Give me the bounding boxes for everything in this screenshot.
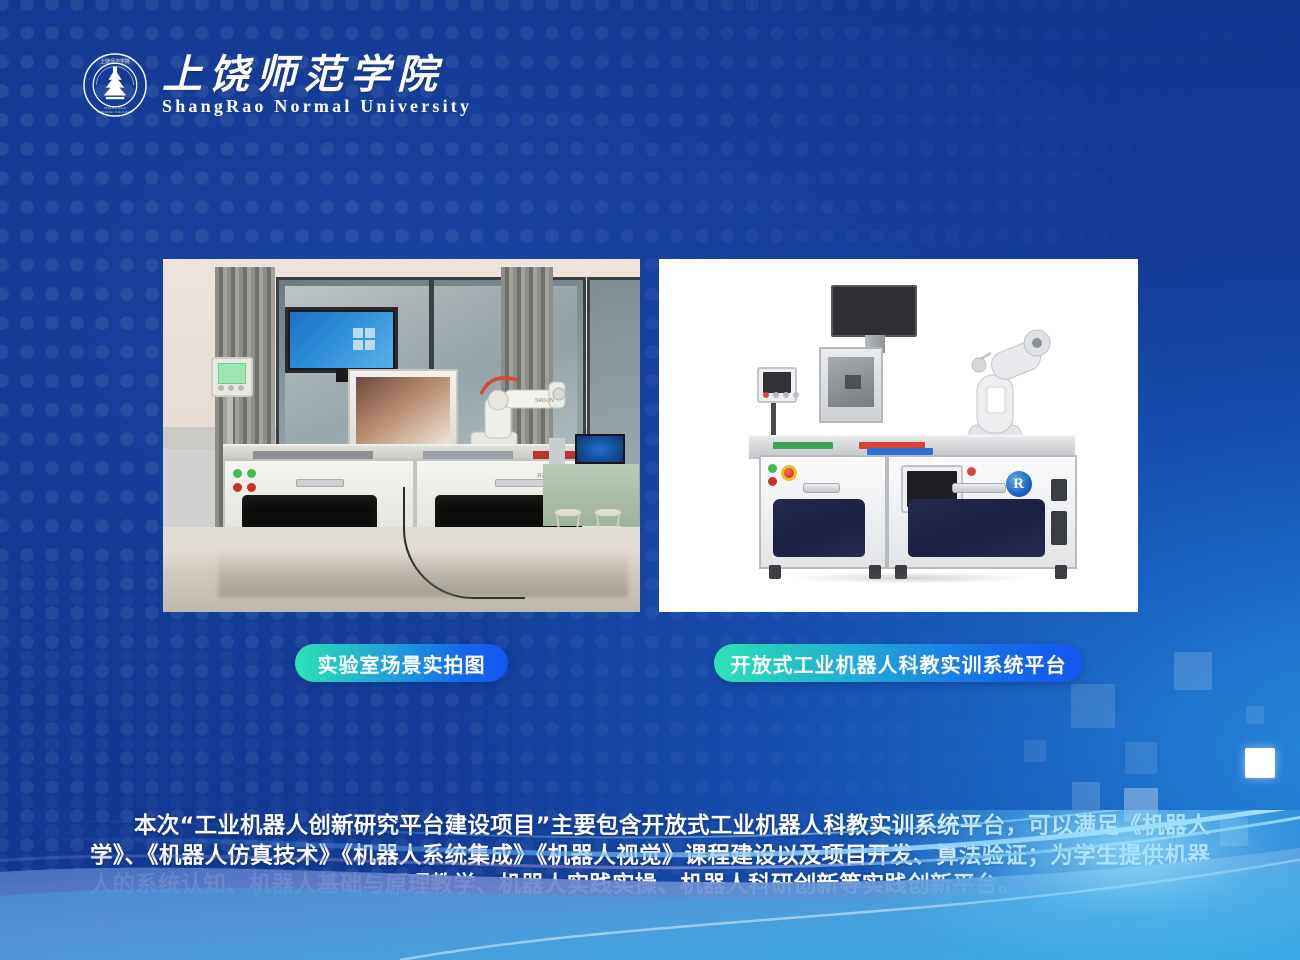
lab-pendant-buttons [218, 385, 244, 391]
render-side-vent [1051, 511, 1067, 545]
lab-monitor-screen [290, 312, 393, 368]
bottom-wave-decoration [0, 810, 1300, 960]
lab-scene-illustration: SIASUN 开放 [163, 259, 640, 612]
render-cabinet-window [908, 499, 1046, 557]
render-cabinet-indicators [768, 464, 778, 486]
gallery-image-lab-photo[interactable]: SIASUN 开放 [163, 259, 640, 612]
render-cabinet-right: R 机器人创新工坊 [887, 455, 1077, 569]
lab-machine-enclosure [348, 369, 458, 454]
render-cabinet-handle [952, 483, 1006, 493]
svg-text:上饶师范学院: 上饶师范学院 [100, 58, 130, 65]
render-hmi-controls [763, 392, 799, 398]
caption-row: 实验室场景实拍图 开放式工业机器人科教实训系统平台 [0, 644, 1300, 684]
svg-text:SHANGRAO: SHANGRAO [104, 106, 126, 110]
render-enclosure-tool [845, 375, 861, 389]
lab-cabinet-handle [296, 479, 343, 487]
gallery-image-platform-render[interactable]: R 机器人创新工坊 [659, 259, 1138, 612]
decorative-square [1024, 740, 1046, 762]
university-logo: 上饶师范学院 SHANGRAO NORMAL COLLEGE 上饶师范学院 Sh… [82, 52, 472, 118]
render-cabinet-handle [803, 483, 840, 493]
slide-root: 上饶师范学院 SHANGRAO NORMAL COLLEGE 上饶师范学院 Sh… [0, 0, 1300, 960]
decorative-square [1246, 706, 1264, 724]
render-cabinet-left [759, 455, 887, 569]
university-seal-icon: 上饶师范学院 SHANGRAO NORMAL COLLEGE [82, 52, 148, 118]
lab-teach-pendant [211, 357, 253, 397]
render-brand-mark: R [1006, 471, 1032, 497]
render-bench-rail [867, 448, 933, 455]
lab-floor-reflection [218, 549, 628, 597]
render-panel-stop-button [967, 467, 976, 476]
logo-name-en: ShangRao Normal University [162, 97, 472, 115]
platform-render-illustration: R 机器人创新工坊 [659, 259, 1138, 612]
emergency-stop-icon [781, 465, 797, 481]
logo-name-cn: 上饶师范学院 [162, 55, 472, 95]
lab-cabinet-handle [495, 479, 546, 487]
lab-pendant-screen [218, 363, 246, 384]
lab-enclosure-glass [356, 377, 450, 446]
render-bench-rail [773, 442, 833, 449]
lab-desk-monitor-wallpaper [577, 436, 623, 462]
render-ground-shadow [745, 570, 1075, 586]
svg-text:NORMAL COLLEGE: NORMAL COLLEGE [97, 110, 134, 114]
logo-text-block: 上饶师范学院 ShangRao Normal University [162, 55, 472, 115]
render-hmi-screen [763, 372, 791, 393]
render-machine-enclosure [819, 347, 883, 423]
decorative-square [1245, 748, 1275, 778]
wave-glow [660, 810, 1300, 960]
decorative-square [1125, 742, 1157, 774]
caption-pill-platform-render[interactable]: 开放式工业机器人科教实训系统平台 [714, 644, 1083, 682]
lab-desk-monitor [575, 434, 625, 464]
render-cabinet-window [773, 499, 865, 557]
decorative-square [1072, 782, 1100, 810]
render-hmi-panel [757, 367, 797, 403]
render-overhead-monitor [831, 285, 917, 337]
lab-desktop-tower [549, 438, 565, 464]
lab-cabinet-indicators [233, 469, 256, 492]
decorative-square [1071, 684, 1115, 728]
lab-wall-monitor [285, 307, 398, 373]
svg-text:SIASUN: SIASUN [535, 398, 554, 404]
caption-pill-lab-photo[interactable]: 实验室场景实拍图 [295, 644, 508, 682]
render-side-vent [1051, 479, 1067, 501]
windows-logo-icon [353, 328, 375, 350]
gallery: SIASUN 开放 [0, 259, 1300, 612]
